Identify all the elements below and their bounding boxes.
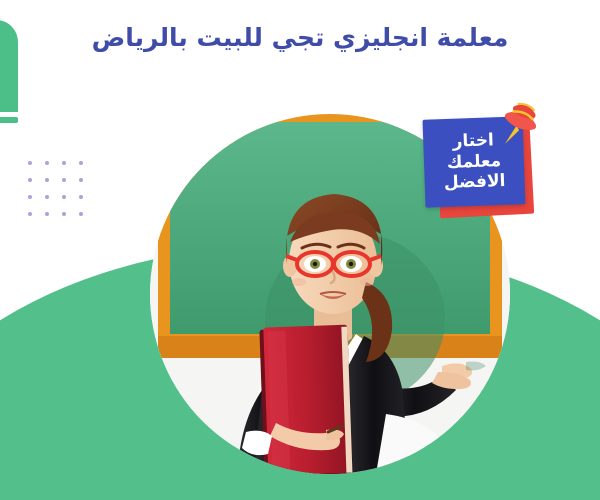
dot — [62, 178, 66, 182]
dot — [62, 195, 66, 199]
dot — [28, 195, 32, 199]
dot — [45, 178, 49, 182]
poster-canvas: معلمة انجليزي تجي للبيت بالرياض — [0, 0, 600, 500]
badge-line-2: معلمك — [446, 151, 501, 174]
dot — [79, 212, 83, 216]
dot — [45, 195, 49, 199]
dot — [28, 212, 32, 216]
arch-bar-decoration — [0, 117, 18, 123]
dot — [45, 161, 49, 165]
dot — [28, 161, 32, 165]
dot — [79, 195, 83, 199]
page-title: معلمة انجليزي تجي للبيت بالرياض — [0, 22, 600, 53]
dot — [79, 178, 83, 182]
dot — [79, 161, 83, 165]
dot — [62, 161, 66, 165]
sticky-badge[interactable]: اختار معلمك الافضل — [424, 118, 536, 218]
dot — [28, 178, 32, 182]
badge-line-1: اختار — [452, 130, 494, 152]
dot — [45, 212, 49, 216]
dot — [62, 212, 66, 216]
dot-grid-decoration — [28, 161, 96, 229]
pushpin-icon — [490, 96, 548, 154]
badge-line-3: الافضل — [444, 171, 506, 194]
